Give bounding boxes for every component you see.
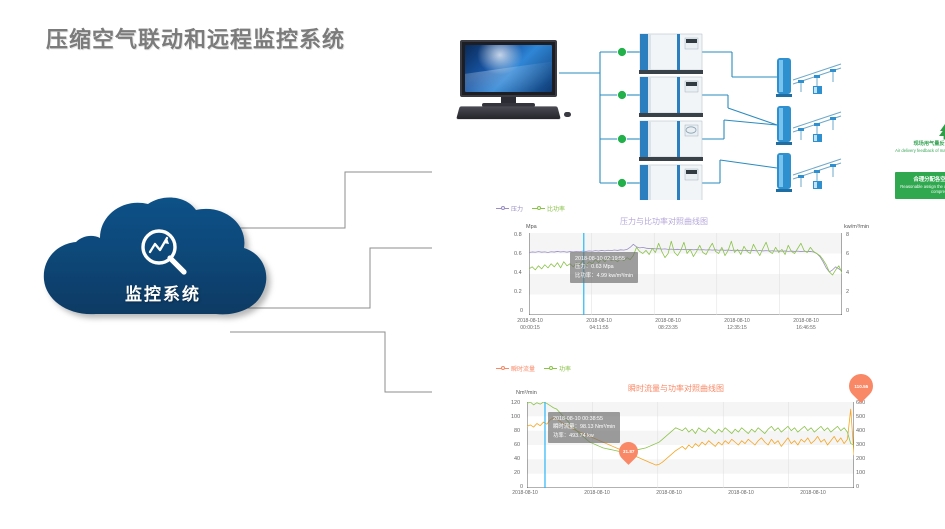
monitoring-cloud[interactable]: 监控系统 [38,196,288,336]
legend-marker-icon [544,366,557,372]
tooltip-line-2: 功率：493.74 kw [553,432,615,440]
tooltip-line-2: 比功率：4.99 kw/m³/min [575,272,633,280]
x-tick: 2018-08-1004:11:55 [571,318,627,332]
topology-wiring [432,20,942,200]
y-tick: 80 [514,428,520,434]
y2-tick: 2 [846,289,849,295]
working-state-note-en: Reasonable assign the working states of … [895,184,945,195]
legend-marker-icon [496,366,509,372]
topology-diagram-panel: 现场用气量反馈主控中心 Air delivery feedback of mai… [432,20,942,200]
y2-tick: 400 [856,428,865,434]
y-tick: 0 [520,308,523,314]
y-tick: 120 [511,400,520,406]
chart-tooltip-pressure: 2018-08-10 02:19:55 压力：0.63 Mpa 比功率：4.99… [570,252,638,283]
y-tick: 0.6 [514,251,522,257]
y2-tick: 100 [856,470,865,476]
x-tick: 2018-08-1012:35:15 [709,318,765,332]
legend-label: 功率 [559,364,571,373]
x-tick: 2018-08-10 [569,490,625,497]
chart-legend-pressure: 压力 比功率 [496,204,565,213]
chart-tooltip-flow: 2018-08-10 00:38:55 瞬时流量：98.13 Nm³/min 功… [548,412,620,443]
chart-title-pressure: 压力与比功率对照曲线图 [620,216,708,227]
legend-label: 压力 [511,204,523,213]
y-tick: 0.2 [514,289,522,295]
y2-tick: 8 [846,232,849,238]
control-center-caption: 现场用气量反馈主控中心 Air delivery feedback of mai… [887,141,945,153]
y2-tick: 6 [846,251,849,257]
slide-canvas: 压缩空气联动和远程监控系统 监 [0,0,945,529]
legend-label: 比功率 [547,204,565,213]
y2-tick: 500 [856,414,865,420]
compressor-unit [639,34,703,200]
y2-tick: 200 [856,456,865,462]
legend-item[interactable]: 瞬时流量 [496,364,535,373]
page-title: 压缩空气联动和远程监控系统 [46,22,345,54]
data-marker-label: 110.55 [854,384,868,389]
x-tick: 2018-08-10 [497,490,553,497]
x-tick: 2018-08-1000:00:15 [502,318,558,332]
data-marker-max[interactable]: 110.55 [844,369,878,403]
working-state-note-cn: 合理分配各空压工作状态 [913,177,945,184]
x-tick: 2018-08-10 [641,490,697,497]
tooltip-line-1: 瞬时流量：98.13 Nm³/min [553,423,615,431]
air-tank-and-pipeline [776,58,841,192]
y-axis-unit-left: Nm³/min [516,390,537,396]
chart-legend-flow: 瞬时流量 功率 [496,364,571,373]
legend-item[interactable]: 比功率 [532,204,565,213]
legend-label: 瞬时流量 [511,364,535,373]
y-tick: 0.4 [514,270,522,276]
tree-marker-icon [935,124,945,140]
legend-marker-icon [496,206,509,212]
legend-item[interactable]: 压力 [496,204,523,213]
working-state-note: 合理分配各空压工作状态 Reasonable assign the workin… [895,172,945,199]
y2-tick: 4 [846,270,849,276]
chart-panel-pressure: 压力 比功率 压力与比功率对照曲线图 Mpa kw/m³/min 0.8 0.6… [492,202,882,330]
chart-title-flow: 瞬时流量与功率对照曲线图 [628,383,724,394]
y-axis-unit-left: Mpa [526,224,537,230]
legend-marker-icon [532,206,545,212]
status-nodes [618,48,627,188]
y-tick: 0.8 [514,232,522,238]
control-center-caption-en: Air delivery feedback of main control ce… [887,148,945,153]
x-tick: 2018-08-1016:46:55 [778,318,834,332]
tooltip-timestamp: 2018-08-10 00:38:55 [553,415,615,423]
y-axis-unit-right: kw/m³/min [844,224,869,230]
tooltip-line-1: 压力：0.63 Mpa [575,263,633,271]
x-tick: 2018-08-10 [713,490,769,497]
x-tick: 2018-08-1008:23:35 [640,318,696,332]
y-tick: 60 [514,442,520,448]
y2-tick: 0 [856,484,859,490]
legend-item[interactable]: 功率 [544,364,571,373]
x-tick: 2018-08-10 [785,490,841,497]
data-marker-label: 31.87 [623,449,635,454]
y2-tick: 0 [846,308,849,314]
y-tick: 20 [514,470,520,476]
y-tick: 40 [514,456,520,462]
cloud-label: 监控系统 [38,280,288,305]
tooltip-timestamp: 2018-08-10 02:19:55 [575,255,633,263]
chart-panel-flow: 瞬时流量 功率 瞬时流量与功率对照曲线图 Nm³/min 120 100 80 … [492,362,892,522]
y2-tick: 300 [856,442,865,448]
y-tick: 100 [511,414,520,420]
magnifier-chart-icon [136,224,192,280]
